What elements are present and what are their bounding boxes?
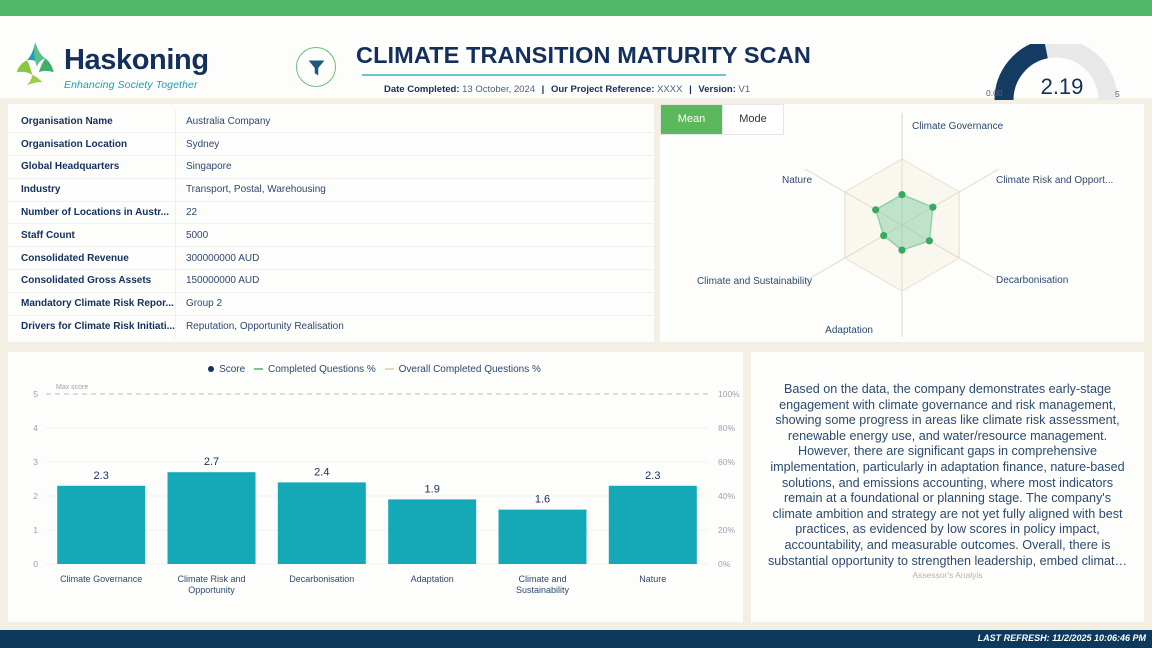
bar-y-tick: 1 (33, 525, 38, 535)
bar-category-label: Opportunity (188, 585, 235, 595)
top-accent-band (0, 0, 1152, 16)
bar-y2-tick: 40% (718, 491, 735, 501)
bar-y2-tick: 100% (718, 389, 740, 399)
legend-dot-icon (208, 366, 214, 372)
gauge-value: 2.19 (1026, 74, 1098, 100)
table-row: Consolidated Revenue300000000 AUD (8, 247, 654, 270)
table-row: Drivers for Climate Risk Initiati...Repu… (8, 315, 654, 338)
version-label: Version: (698, 84, 736, 95)
table-row: Consolidated Gross Assets150000000 AUD (8, 270, 654, 293)
table-row: Global HeadquartersSingapore (8, 156, 654, 179)
legend-line-icon-completed (254, 368, 263, 370)
legend-line-icon-overall (385, 368, 394, 370)
bar-value-label: 2.7 (204, 456, 219, 468)
legend-item-score[interactable]: Score (208, 364, 247, 375)
info-row-label: Drivers for Climate Risk Initiati... (8, 315, 175, 338)
legend-item-completed[interactable]: Completed Questions % (254, 364, 378, 375)
radar-axis-label: Climate Risk and Opport... (996, 175, 1113, 186)
brand-tagline: Enhancing Society Together (64, 79, 209, 91)
legend-label-overall: Overall Completed Questions % (399, 364, 541, 375)
bar-category-label: Decarbonisation (289, 574, 354, 584)
info-row-value: Reputation, Opportunity Realisation (175, 315, 654, 338)
assessor-analysis-panel: Based on the data, the company demonstra… (751, 352, 1144, 622)
info-row-value: Australia Company (175, 110, 654, 133)
radar-axis-label: Adaptation (825, 325, 873, 336)
bar[interactable] (609, 486, 697, 564)
bar-chart: 00%120%240%360%480%5100%Max score2.3Clim… (8, 382, 743, 622)
organisation-info-table: Organisation NameAustralia CompanyOrgani… (8, 110, 654, 338)
page-footer: LAST REFRESH: 11/2/2025 10:06:46 PM (0, 630, 1152, 648)
brand-wordmark: Haskoning Enhancing Society Together (64, 40, 209, 91)
bar-y-tick: 5 (33, 389, 38, 399)
date-completed-label: Date Completed: (384, 84, 459, 95)
info-row-value: Group 2 (175, 292, 654, 315)
info-row-label: Consolidated Revenue (8, 247, 175, 270)
organisation-info-panel: Organisation NameAustralia CompanyOrgani… (8, 104, 654, 342)
page-header: Haskoning Enhancing Society Together CLI… (0, 16, 1152, 98)
date-completed-value: 13 October, 2024 (462, 84, 535, 95)
info-row-label: Number of Locations in Austr... (8, 201, 175, 224)
analysis-caption: Assessor's Analyis (751, 570, 1144, 580)
gauge-max-label: 5 (1115, 89, 1120, 99)
meta-separator-1: | (538, 84, 549, 95)
project-reference-value: XXXX (657, 84, 682, 95)
info-row-label: Organisation Location (8, 133, 175, 156)
dashboard-root: Haskoning Enhancing Society Together CLI… (0, 0, 1152, 648)
bar-value-label: 2.3 (645, 470, 660, 482)
brand-name: Haskoning (64, 46, 209, 75)
bar[interactable] (388, 499, 476, 564)
last-refresh-text: LAST REFRESH: 11/2/2025 10:06:46 PM (978, 633, 1146, 643)
legend-item-overall[interactable]: Overall Completed Questions % (385, 364, 543, 375)
info-row-value: 150000000 AUD (175, 270, 654, 293)
info-row-value: 22 (175, 201, 654, 224)
bar-y2-tick: 60% (718, 457, 735, 467)
bar[interactable] (168, 472, 256, 564)
bar-y-tick: 0 (33, 559, 38, 569)
brand-logo: Haskoning Enhancing Society Together (14, 40, 209, 91)
bar-y2-tick: 20% (718, 525, 735, 535)
legend-label-completed: Completed Questions % (268, 364, 376, 375)
legend-label-score: Score (219, 364, 245, 375)
info-row-label: Mandatory Climate Risk Repor... (8, 292, 175, 315)
radar-axis-label: Climate and Sustainability (697, 276, 812, 287)
radar-axis-label: Nature (782, 175, 812, 186)
table-row: IndustryTransport, Postal, Warehousing (8, 178, 654, 201)
analysis-text: Based on the data, the company demonstra… (765, 382, 1130, 569)
filter-button[interactable] (296, 47, 336, 87)
info-row-value: Singapore (175, 156, 654, 179)
radar-axis-label: Decarbonisation (996, 275, 1068, 286)
info-row-label: Global Headquarters (8, 156, 175, 179)
bar-value-label: 1.9 (425, 483, 440, 495)
bar-value-label: 1.6 (535, 494, 550, 506)
title-block: CLIMATE TRANSITION MATURITY SCAN Date Co… (356, 42, 936, 95)
bar-category-label: Climate and (518, 574, 566, 584)
info-row-value: 5000 (175, 224, 654, 247)
project-reference-label: Our Project Reference: (551, 84, 654, 95)
radar-chart-panel: Mean Mode Climate GovernanceClimate Risk… (660, 104, 1144, 342)
max-score-label: Max score (56, 384, 88, 391)
bar-category-label: Adaptation (411, 574, 454, 584)
bar-y-tick: 4 (33, 423, 38, 433)
bar-y-tick: 2 (33, 491, 38, 501)
info-row-label: Organisation Name (8, 110, 175, 133)
star-logo-icon (14, 40, 60, 86)
bar-y2-tick: 0% (718, 559, 731, 569)
bar-value-label: 2.4 (314, 466, 329, 478)
title-underline (362, 74, 726, 76)
info-row-label: Consolidated Gross Assets (8, 270, 175, 293)
header-meta: Date Completed: 13 October, 2024 | Our P… (356, 84, 936, 95)
page-title: CLIMATE TRANSITION MATURITY SCAN (356, 42, 936, 69)
score-bar-chart-panel: Score Completed Questions % Overall Comp… (8, 352, 743, 622)
info-row-value: 300000000 AUD (175, 247, 654, 270)
meta-separator-2: | (685, 84, 696, 95)
version-value: V1 (739, 84, 751, 95)
radar-chart: Climate GovernanceClimate Risk and Oppor… (660, 104, 1144, 342)
table-row: Staff Count5000 (8, 224, 654, 247)
gauge-min-label: 0.00 (986, 88, 1003, 98)
radar-axis-label: Climate Governance (912, 121, 1004, 132)
bar-category-label: Climate Governance (60, 574, 142, 584)
bar-y-tick: 3 (33, 457, 38, 467)
bar-value-label: 2.3 (94, 470, 109, 482)
table-row: Number of Locations in Austr...22 (8, 201, 654, 224)
table-row: Organisation NameAustralia Company (8, 110, 654, 133)
info-row-value: Sydney (175, 133, 654, 156)
bar[interactable] (278, 482, 366, 564)
bar[interactable] (499, 510, 587, 564)
bar-y2-tick: 80% (718, 423, 735, 433)
bar-category-label: Sustainability (516, 585, 570, 595)
overall-score-gauge: 0.00 5 2.19 (986, 44, 1126, 106)
bar[interactable] (57, 486, 145, 564)
bar-chart-legend: Score Completed Questions % Overall Comp… (8, 364, 743, 375)
bar-category-label: Climate Risk and (177, 574, 245, 584)
info-row-label: Industry (8, 178, 175, 201)
info-row-value: Transport, Postal, Warehousing (175, 178, 654, 201)
table-row: Mandatory Climate Risk Repor...Group 2 (8, 292, 654, 315)
bar-category-label: Nature (639, 574, 666, 584)
info-row-label: Staff Count (8, 224, 175, 247)
table-row: Organisation LocationSydney (8, 133, 654, 156)
filter-funnel-icon (306, 57, 327, 78)
